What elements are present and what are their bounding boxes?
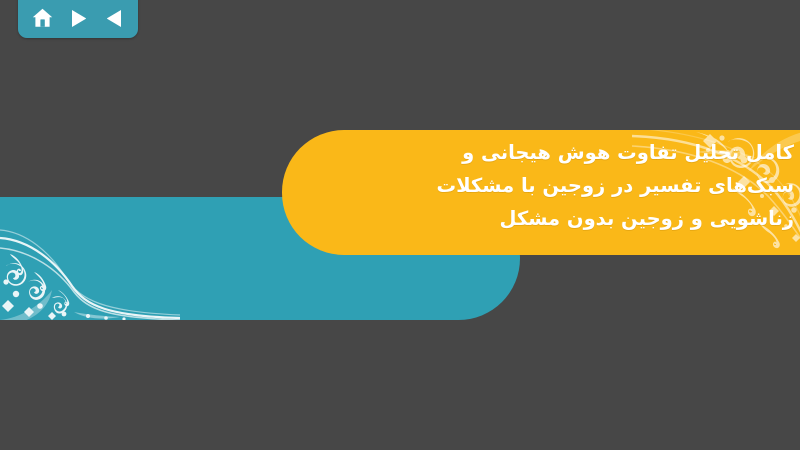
home-icon — [32, 8, 53, 28]
title-line-1: کامل تحلیل تفاوت هوش هیجانی و — [322, 136, 794, 169]
back-button[interactable] — [100, 5, 128, 31]
title-line-3: زناشویی و زوجین بدون مشکل — [322, 202, 794, 235]
triangle-left-icon — [106, 9, 123, 28]
slide-canvas: کامل تحلیل تفاوت هوش هیجانی و سبک‌های تف… — [0, 0, 800, 450]
navigation-bar — [18, 0, 138, 38]
teal-arabesque-ornament — [0, 220, 180, 320]
orange-title-banner: کامل تحلیل تفاوت هوش هیجانی و سبک‌های تف… — [282, 130, 800, 255]
presentation-title: کامل تحلیل تفاوت هوش هیجانی و سبک‌های تف… — [322, 136, 794, 235]
title-line-2: سبک‌های تفسیر در زوجین با مشکلات — [322, 169, 794, 202]
triangle-right-icon — [70, 9, 87, 28]
forward-button[interactable] — [64, 5, 92, 31]
home-button[interactable] — [28, 5, 56, 31]
